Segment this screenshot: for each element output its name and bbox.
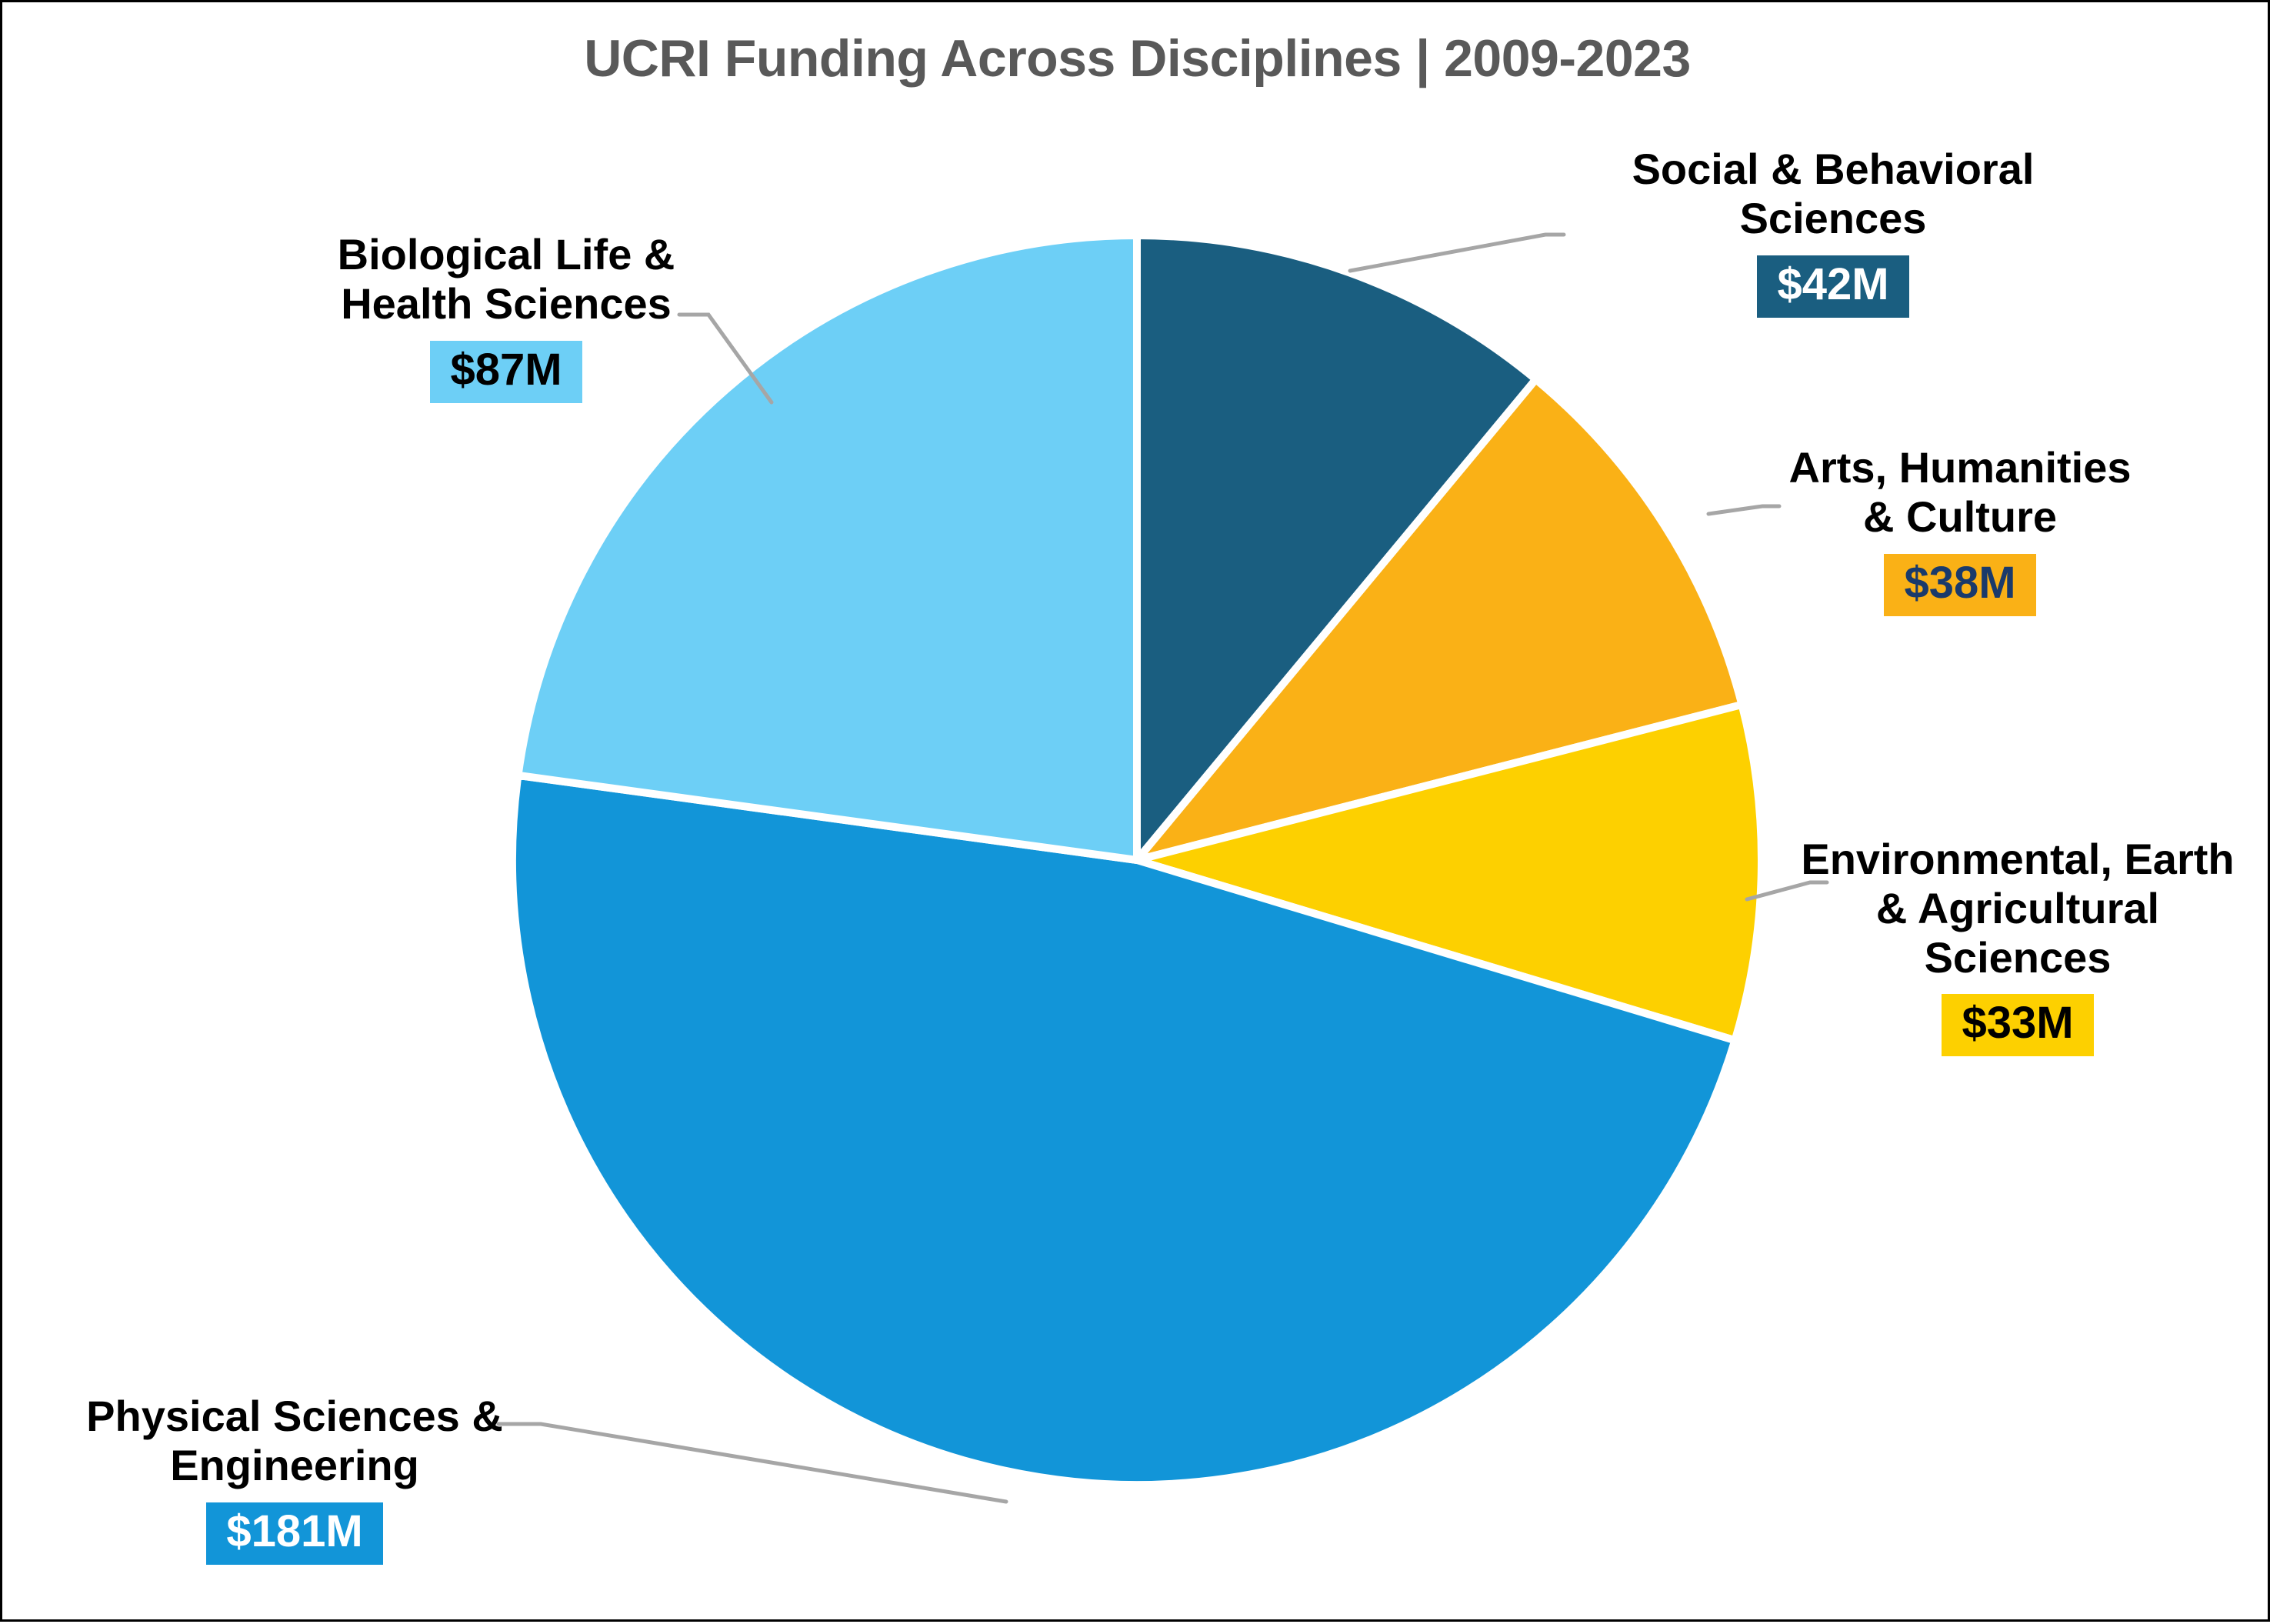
callout-title: Arts, Humanities & Culture — [1706, 443, 2214, 542]
callout-title: Environmental, Earth & Agricultural Scie… — [1772, 835, 2264, 982]
callout-arts-humanities-culture[interactable]: Arts, Humanities & Culture $38M — [1706, 443, 2214, 616]
status-badge: $87M — [430, 341, 582, 403]
callout-physical-sciences-engineering[interactable]: Physical Sciences & Engineering $181M — [56, 1392, 533, 1565]
callout-biological-life-health-sciences[interactable]: Biological Life & Health Sciences $87M — [279, 230, 733, 403]
callout-title: Physical Sciences & Engineering — [56, 1392, 533, 1490]
callout-title: Biological Life & Health Sciences — [279, 230, 733, 328]
status-badge: $33M — [1942, 994, 2093, 1056]
pie-slice-group: Social & Behavioral Sciences — $42MArts,… — [512, 235, 1762, 1485]
chart-canvas: UCRI Funding Across Disciplines | 2009-2… — [0, 0, 2270, 1622]
status-badge: $42M — [1757, 255, 1908, 318]
callout-title: Social & Behavioral Sciences — [1564, 145, 2102, 243]
callout-environmental-earth-agricultural-sciences[interactable]: Environmental, Earth & Agricultural Scie… — [1772, 835, 2264, 1056]
status-badge: $181M — [206, 1502, 382, 1565]
leader-line-social — [1350, 235, 1564, 271]
status-badge: $38M — [1884, 554, 2035, 616]
callout-social-behavioral-sciences[interactable]: Social & Behavioral Sciences $42M — [1564, 145, 2102, 318]
